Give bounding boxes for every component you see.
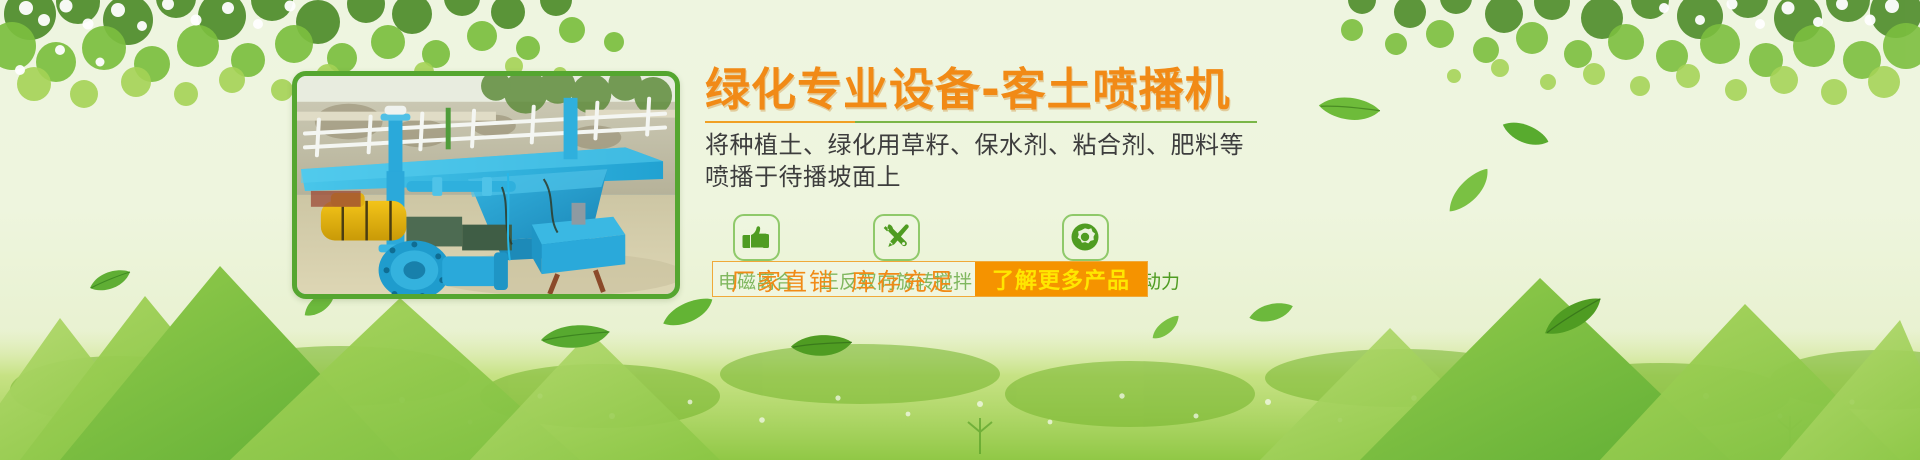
promo-banner: 绿化专业设备-客土喷播机 将种植土、绿化用草籽、保水剂、粘合剂、肥料等 喷播于待… (0, 0, 1920, 460)
wrench-screwdriver-glyph (881, 222, 911, 252)
gear-icon (1062, 214, 1109, 261)
hydroseeder-machine-illustration (297, 76, 675, 294)
cta-slogan: 厂家直销 库存充足 (713, 262, 975, 296)
cta-slogan-part-2: 库存充足 (851, 262, 955, 297)
cta-slogan-part-1: 厂家直销 (731, 262, 835, 297)
content-column: 绿化专业设备-客土喷播机 将种植土、绿化用草籽、保水剂、粘合剂、肥料等 喷播于待… (705, 66, 1485, 292)
learn-more-button[interactable]: 了解更多产品 (975, 262, 1147, 296)
subtitle-line-1: 将种植土、绿化用草籽、保水剂、粘合剂、肥料等 (705, 130, 1485, 162)
subtitle-line-2: 喷播于待播坡面上 (705, 162, 1485, 194)
gear-glyph (1070, 222, 1100, 252)
leaf-icon (1247, 298, 1295, 329)
thumbs-up-icon (733, 214, 780, 261)
product-photo (297, 76, 675, 294)
cta-bar: 厂家直销 库存充足 了解更多产品 (712, 261, 1148, 297)
tools-icon (873, 214, 920, 261)
title-underline (705, 121, 1257, 123)
product-photo-frame (292, 71, 680, 299)
thumbs-up-glyph (741, 223, 771, 251)
page-title: 绿化专业设备-客土喷播机 (705, 66, 1485, 114)
leaf-icon (88, 268, 132, 294)
